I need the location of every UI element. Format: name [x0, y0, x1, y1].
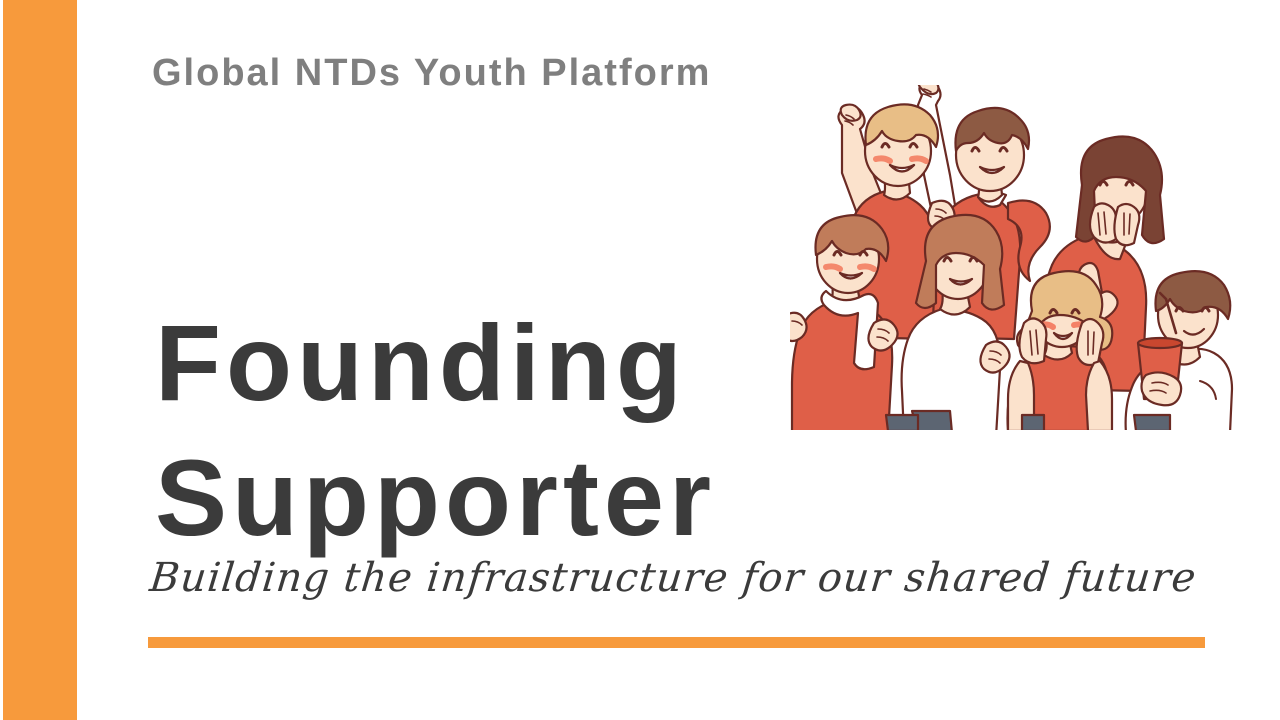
figure-auburn-man-white-scarf	[790, 215, 898, 430]
pants-strip-left	[886, 415, 918, 430]
page-eyebrow-text: Global NTDs Youth Platform	[152, 52, 711, 96]
figure-blonde-woman-hands-on-cheeks	[1008, 271, 1113, 430]
page-title-line-1: Founding	[155, 295, 716, 430]
pants-strip-mid	[1022, 415, 1044, 430]
group-celebration-svg	[790, 85, 1250, 430]
page-title-line-2: Supporter	[155, 430, 716, 565]
orange-divider-rule	[148, 637, 1205, 648]
group-celebration-illustration	[790, 85, 1250, 430]
page-title: Founding Supporter	[155, 295, 716, 565]
orange-accent-bar	[3, 0, 77, 720]
tagline-text: Building the infrastructure for our shar…	[148, 555, 1223, 601]
slide-canvas: Global NTDs Youth Platform Founding Supp…	[0, 0, 1280, 720]
